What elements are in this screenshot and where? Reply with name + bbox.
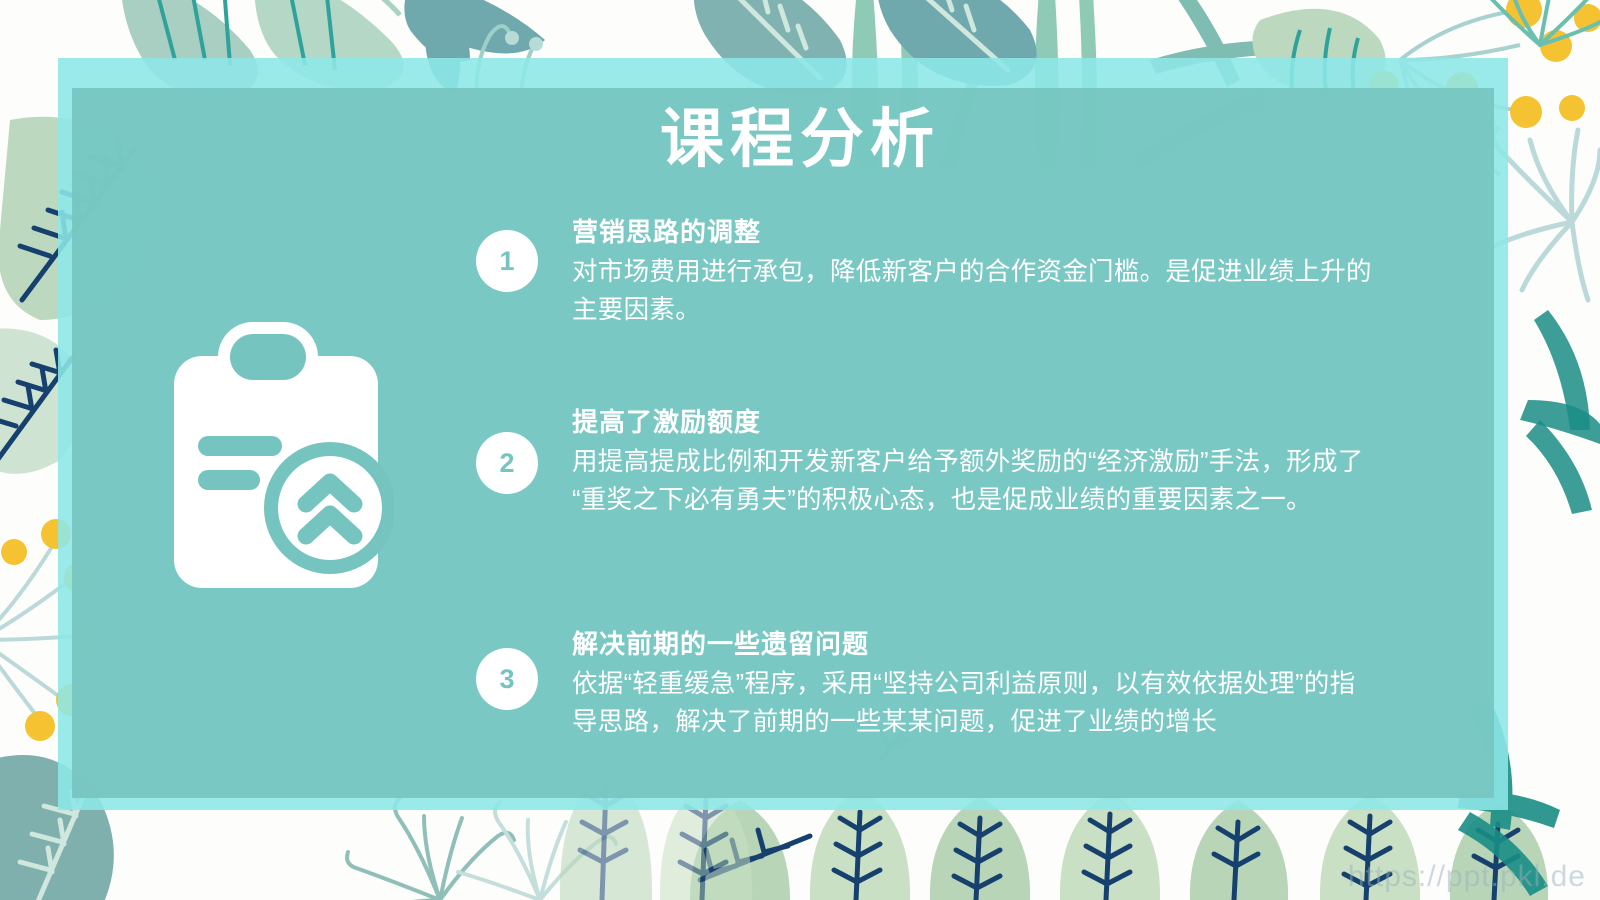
page-title: 课程分析 <box>0 104 1600 174</box>
point-number-badge: 2 <box>476 432 538 494</box>
point-body: 营销思路的调整 对市场费用进行承包，降低新客户的合作资金门槛。是促进业绩上升的主… <box>572 216 1372 330</box>
point-text: 用提高提成比例和开发新客户给予额外奖励的“经济激励”手法，形成了“重奖之下必有勇… <box>572 443 1372 521</box>
point-body: 解决前期的一些遗留问题 依据“轻重缓急”程序，采用“坚持公司利益原则，以有效依据… <box>572 628 1372 742</box>
point-number-badge: 1 <box>476 230 538 292</box>
point-number-badge: 3 <box>476 648 538 710</box>
watermark: https://ppt.pkl.de <box>1348 860 1586 894</box>
slide-content: 课程分析 1 营销思路的调整 对市场费用进行承包，降低新客户的合作资金 <box>0 0 1600 900</box>
point-heading: 解决前期的一些遗留问题 <box>572 628 1372 661</box>
slide-canvas: 课程分析 1 营销思路的调整 对市场费用进行承包，降低新客户的合作资金 <box>0 0 1600 900</box>
point-body: 提高了激励额度 用提高提成比例和开发新客户给予额外奖励的“经济激励”手法，形成了… <box>572 406 1372 520</box>
point-heading: 提高了激励额度 <box>572 406 1372 439</box>
point-text: 对市场费用进行承包，降低新客户的合作资金门槛。是促进业绩上升的主要因素。 <box>572 253 1372 331</box>
clipboard-growth-icon <box>158 318 394 590</box>
point-text: 依据“轻重缓急”程序，采用“坚持公司利益原则，以有效依据处理”的指导思路，解决了… <box>572 665 1372 743</box>
point-heading: 营销思路的调整 <box>572 216 1372 249</box>
